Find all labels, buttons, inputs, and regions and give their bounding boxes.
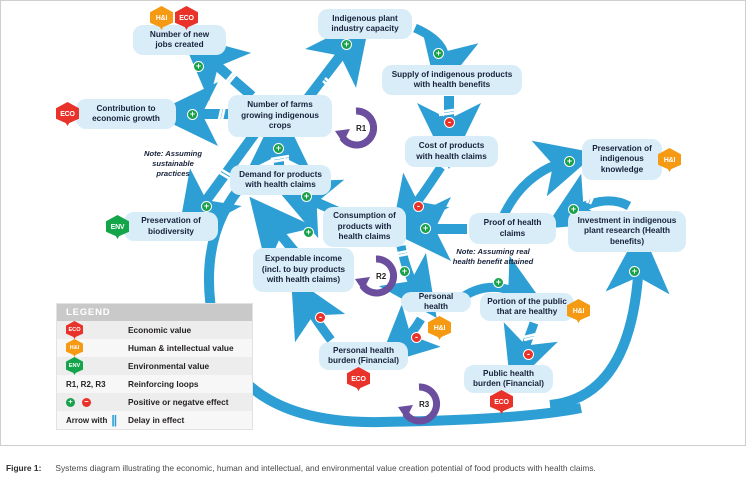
legend-row-environmental: ENV Environmental value [57,357,252,375]
legend-badge-text: ENV [69,363,81,369]
delay-tick-icon: || [111,416,116,424]
badge-text: ECO [494,399,509,406]
node-label: Contribution toeconomic growth [81,104,171,125]
sign-farms-growth: + [187,109,198,120]
legend-text: Economic value [128,325,191,335]
legend: LEGEND ECO Economic value H&I Human & in… [56,303,253,430]
loop-label-text: R2 [376,272,386,281]
node-label: Indigenous plantindustry capacity [323,14,407,35]
sign-consumption-personal: + [399,266,410,277]
node-consumption-of-products-with-health-claims[interactable]: Consumption ofproducts withhealth claims [323,207,406,247]
badge-text: H&I [573,308,584,315]
sign-proof-knowledge: + [564,156,575,167]
sign-personal-portion: + [493,277,504,288]
legend-badge-text: H&I [70,345,80,351]
node-label: Consumption ofproducts withhealth claims [328,211,401,243]
legend-row-human-intellectual: H&I Human & intellectual value [57,339,252,357]
caption-text: Systems diagram illustrating the economi… [55,463,595,473]
note-assuming-sustainable-practices: Note: Assumingsustainablepractices [123,149,223,179]
sign-investment-proof: + [568,204,579,215]
sign-income-demand: + [303,227,314,238]
legend-text: Positive or negatve effect [128,397,229,407]
node-public-health-burden[interactable]: Public healthburden (Financial) [464,365,553,393]
node-label: Investment in indigenousplant research (… [573,216,681,248]
node-personal-health-burden[interactable]: Personal healthburden (Financial) [319,342,408,370]
node-label: Expendable income(incl. to buy productsw… [258,254,349,286]
note-text: Note: Assuming realhealth benefit attain… [453,247,534,266]
node-label: Preservation ofbiodiversity [129,216,213,237]
node-supply-of-indigenous-products[interactable]: Supply of indigenous productswith health… [382,65,522,95]
legend-badge-text: ECO [68,327,80,333]
sign-farms-capacity: + [341,39,352,50]
sign-demand-farms: + [273,143,284,154]
legend-key: R1, R2, R3 [66,380,128,389]
node-portion-of-the-public-that-are-healthy[interactable]: Portion of the publicthat are healthy [480,293,574,321]
legend-row-delay: Arrow with || Delay in effect [57,411,252,429]
sign-farms-jobs: + [193,61,204,72]
sign-proof-consumption: + [420,223,431,234]
edge-capacity-supply [415,28,445,65]
node-preservation-of-biodiversity[interactable]: Preservation ofbiodiversity [124,212,218,241]
node-number-of-farms-growing-indigenous-crops[interactable]: Number of farmsgrowing indigenouscrops [228,95,332,137]
node-demand-for-products-with-health-claims[interactable]: Demand for productswith health claims [230,165,331,195]
loop-R2: R2 [351,253,401,299]
eco-badge-icon: ECO [66,321,83,339]
note-text: Note: Assumingsustainablepractices [144,149,202,178]
badge-text: ENV [111,224,125,231]
sign-supply-cost: - [444,117,455,128]
legend-row-economic: ECO Economic value [57,321,252,339]
badge-text: H&I [664,157,675,164]
loop-label-text: R3 [419,400,429,409]
loop-label-text: R1 [356,124,366,133]
badge-text: H&I [156,15,167,22]
legend-row-polarity: + − Positive or negatve effect [57,393,252,411]
node-label: Portion of the publicthat are healthy [485,297,569,318]
node-preservation-of-indigenous-knowledge[interactable]: Preservation ofindigenousknowledge [582,139,662,180]
node-expendable-income[interactable]: Expendable income(incl. to buy productsw… [253,248,354,292]
figure-page: + + + + + + - - + + + + - - + - + + + Nu… [0,0,746,494]
node-number-of-new-jobs-created[interactable]: Number of newjobs created [133,25,226,55]
sign-portion-pubburden: - [523,349,534,360]
diagram-frame: + + + + + + - - + + + + - - + - + + + Nu… [0,0,746,446]
node-label: Preservation ofindigenousknowledge [587,144,657,176]
edge-proof-knowledge [503,161,567,217]
badge-text: ECO [179,15,194,22]
node-investment-in-indigenous-plant-research[interactable]: Investment in indigenousplant research (… [568,211,686,252]
edge-income-demand [271,223,294,251]
node-label: Personal healthburden (Financial) [324,346,403,367]
node-indigenous-plant-industry-capacity[interactable]: Indigenous plantindustry capacity [318,9,412,39]
node-label: Supply of indigenous productswith health… [387,70,517,91]
node-proof-of-health-claims[interactable]: Proof of healthclaims [469,213,556,244]
hi-badge-icon: H&I [66,339,83,357]
legend-text: Delay in effect [128,415,184,425]
badge-text: ECO [351,376,366,383]
legend-row-reinforcing-loops: R1, R2, R3 Reinforcing loops [57,375,252,393]
legend-key: H&I [66,339,128,357]
caption-label: Figure 1: [6,463,41,473]
node-label: Public healthburden (Financial) [469,369,548,390]
legend-key: + − [66,398,128,407]
badge-text: H&I [434,325,445,332]
sign-pubburden-investment: + [629,266,640,277]
node-label: Number of farmsgrowing indigenouscrops [233,100,327,132]
legend-key: Arrow with || [66,416,128,425]
node-personal-health[interactable]: Personal health [401,292,471,312]
legend-key-text: Arrow with [66,416,107,425]
node-label: Cost of productswith health claims [410,141,493,162]
sign-personal-pburden: - [411,332,422,343]
sign-pburden-income: - [315,312,326,323]
sign-consumption-demand: + [301,191,312,202]
positive-sign-icon: + [66,398,75,407]
loop-R3: R3 [394,381,444,427]
node-label: Demand for productswith health claims [235,170,326,191]
legend-key: ECO [66,321,128,339]
edge-pubburden-investment [550,261,639,405]
legend-text: Environmental value [128,361,209,371]
loop-R1: R1 [331,105,381,151]
edge-farms-capacity [308,43,350,98]
badge-text: ECO [60,111,75,118]
legend-text: Reinforcing loops [128,379,199,389]
negative-sign-icon: − [82,398,91,407]
sign-farms-biodiversity: + [201,201,212,212]
node-cost-of-products-with-health-claims[interactable]: Cost of productswith health claims [405,136,498,167]
figure-caption: Figure 1:Systems diagram illustrating th… [6,463,744,473]
sign-capacity-supply: + [433,48,444,59]
edge-farms-jobs [206,56,252,96]
env-badge-icon: ENV [66,357,83,375]
node-label: Proof of healthclaims [474,218,551,239]
node-label: Number of newjobs created [138,30,221,51]
legend-text: Human & intellectual value [128,343,234,353]
note-assuming-real-health-benefit: Note: Assuming realhealth benefit attain… [433,247,553,267]
legend-title: LEGEND [57,304,252,321]
sign-cost-consumption: - [413,201,424,212]
legend-key: ENV [66,357,128,375]
node-label: Personal health [406,292,466,313]
node-contribution-to-economic-growth[interactable]: Contribution toeconomic growth [76,99,176,129]
